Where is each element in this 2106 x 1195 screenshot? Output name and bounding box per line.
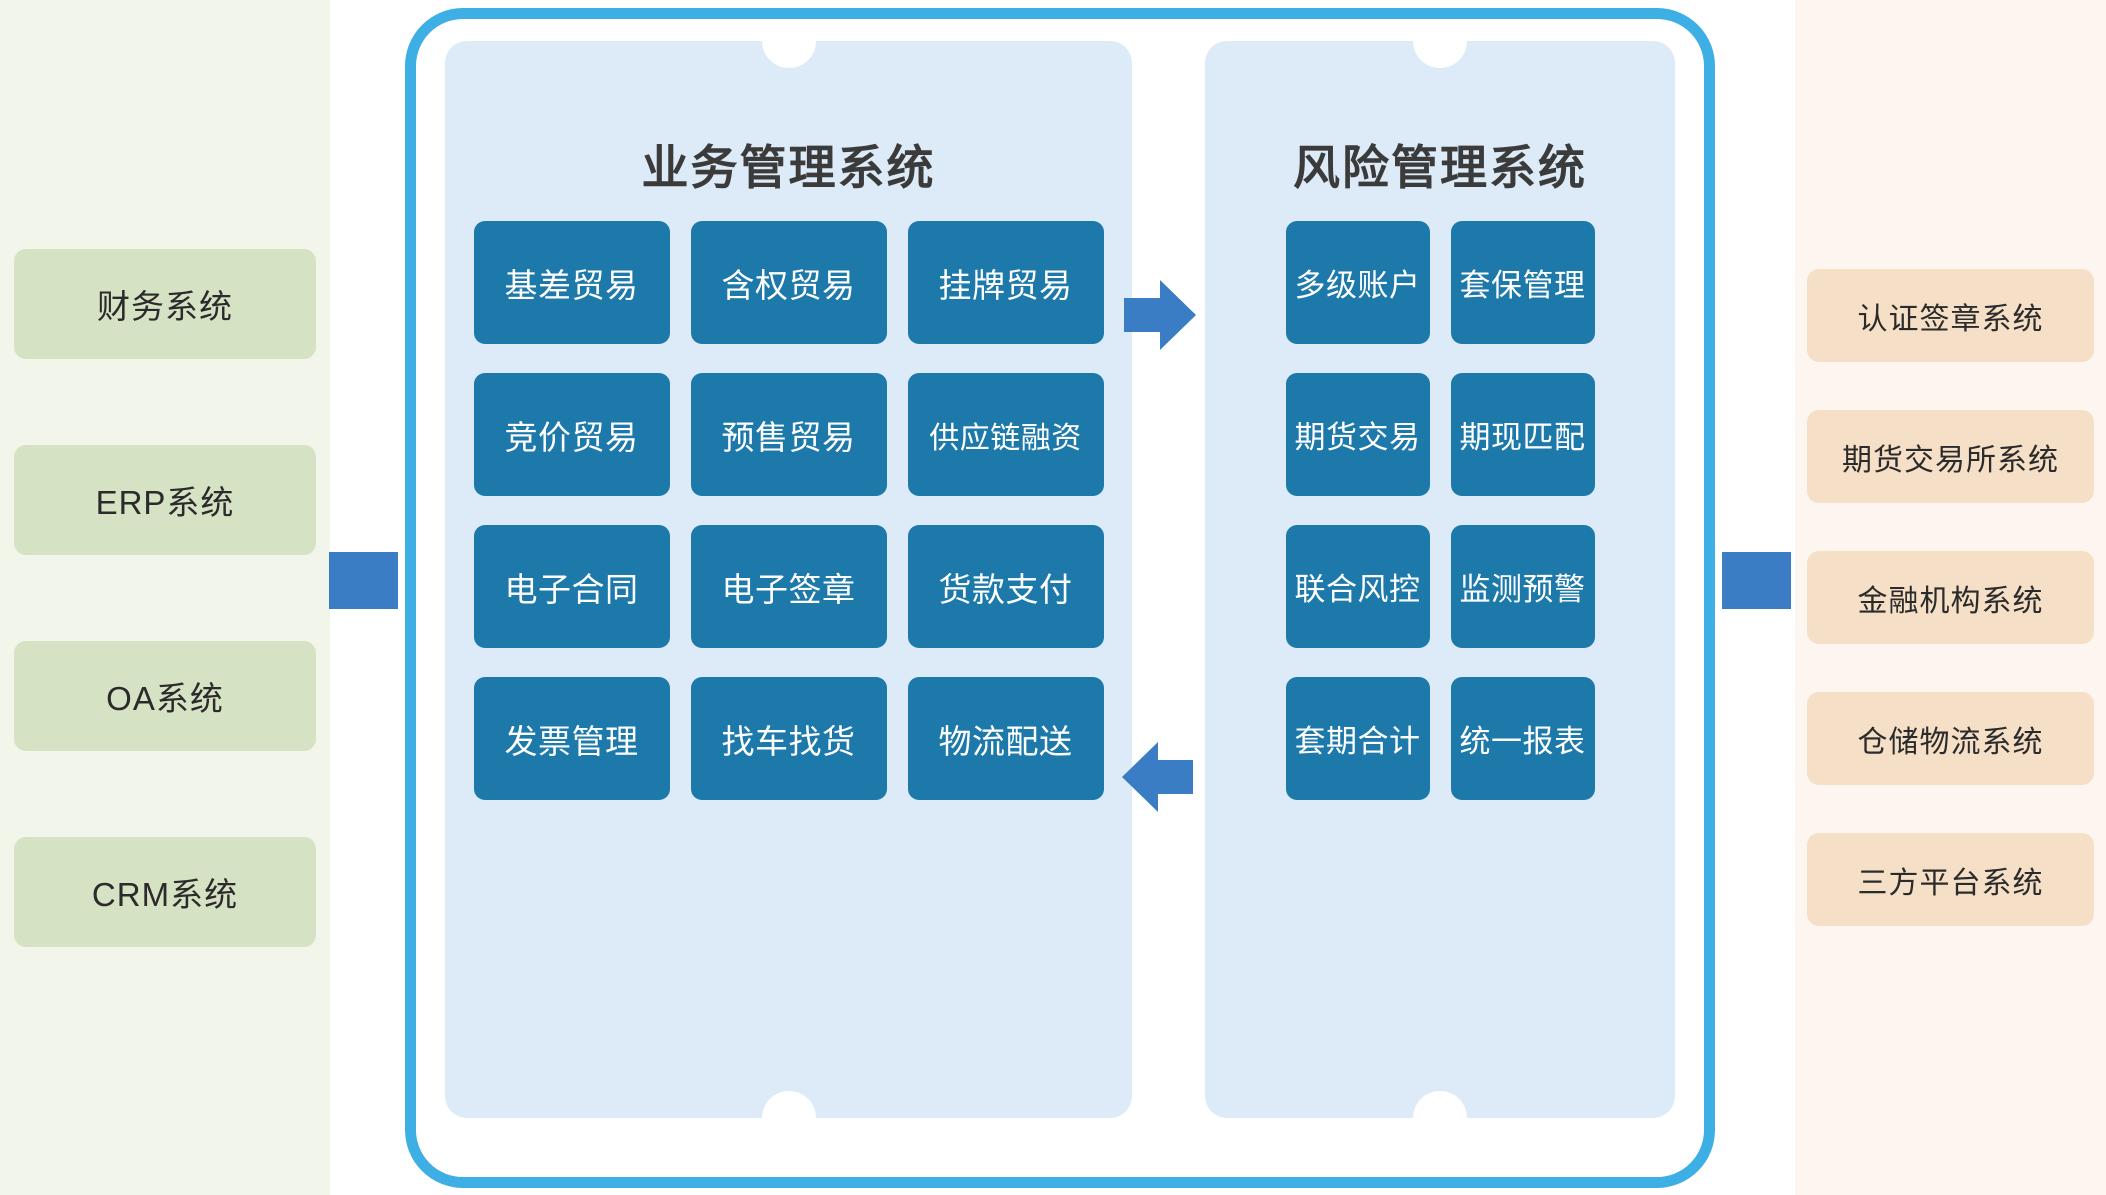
business-tile-9[interactable]: 货款支付 [908, 525, 1104, 648]
left-system-box-2[interactable]: ERP系统 [14, 445, 316, 555]
business-tile-label-2: 含权贸易 [722, 259, 856, 307]
left-system-label-2: ERP系统 [96, 476, 235, 524]
risk-panel-title: 风险管理系统 [1205, 129, 1675, 198]
right-external-connector [1722, 552, 1791, 609]
business-tile-6[interactable]: 供应链融资 [908, 373, 1104, 496]
left-system-box-4[interactable]: CRM系统 [14, 837, 316, 947]
right-system-box-4[interactable]: 仓储物流系统 [1807, 692, 2094, 785]
panel-notch-bottom-icon [1413, 1091, 1467, 1118]
right-system-box-1[interactable]: 认证签章系统 [1807, 269, 2094, 362]
right-system-label-4: 仓储物流系统 [1858, 717, 2044, 761]
business-tile-label-11: 找车找货 [722, 715, 856, 763]
business-tile-label-8: 电子签章 [722, 563, 856, 611]
business-tile-12[interactable]: 物流配送 [908, 677, 1104, 800]
panel-notch-top-icon [1413, 41, 1467, 68]
business-tile-label-10: 发票管理 [505, 715, 639, 763]
arrow-left-shaft [1155, 760, 1193, 794]
risk-tile-label-4: 期现匹配 [1460, 412, 1586, 457]
business-tile-2[interactable]: 含权贸易 [691, 221, 887, 344]
business-tile-3[interactable]: 挂牌贸易 [908, 221, 1104, 344]
risk-tile-grid: 多级账户 套保管理 期货交易 期现匹配 联合风控 监测预警 套期合计 统一报表 [1205, 221, 1675, 800]
left-systems-column: 财务系统 ERP系统 OA系统 CRM系统 [0, 0, 330, 1195]
right-system-box-5[interactable]: 三方平台系统 [1807, 833, 2094, 926]
business-tile-label-4: 竞价贸易 [505, 411, 639, 459]
business-tile-label-12: 物流配送 [939, 715, 1073, 763]
left-system-label-1: 财务系统 [97, 280, 233, 328]
panel-notch-top-icon [762, 41, 816, 68]
business-tile-grid: 基差贸易 含权贸易 挂牌贸易 竞价贸易 预售贸易 供应链融资 电子合同 电子签章… [445, 221, 1132, 800]
business-tile-label-5: 预售贸易 [722, 411, 856, 459]
risk-tile-3[interactable]: 期货交易 [1286, 373, 1430, 496]
arrow-left-icon [1122, 742, 1193, 812]
risk-tile-label-1: 多级账户 [1295, 260, 1421, 305]
business-tile-10[interactable]: 发票管理 [474, 677, 670, 800]
left-system-box-3[interactable]: OA系统 [14, 641, 316, 751]
right-systems-column: 认证签章系统 期货交易所系统 金融机构系统 仓储物流系统 三方平台系统 [1795, 0, 2106, 1195]
risk-tile-label-2: 套保管理 [1460, 260, 1586, 305]
risk-tile-label-5: 联合风控 [1295, 564, 1421, 609]
arrow-right-head [1160, 280, 1196, 350]
risk-tile-8[interactable]: 统一报表 [1451, 677, 1595, 800]
risk-tile-label-8: 统一报表 [1460, 716, 1586, 761]
business-tile-label-6: 供应链融资 [929, 413, 1082, 457]
business-tile-1[interactable]: 基差贸易 [474, 221, 670, 344]
risk-tile-label-6: 监测预警 [1460, 564, 1586, 609]
risk-management-panel: 风险管理系统 多级账户 套保管理 期货交易 期现匹配 联合风控 监测预警 套期合… [1205, 41, 1675, 1118]
diagram-canvas: 财务系统 ERP系统 OA系统 CRM系统 认证签章系统 期货交易所系统 金融机… [0, 0, 2106, 1195]
risk-tile-1[interactable]: 多级账户 [1286, 221, 1430, 344]
risk-tile-4[interactable]: 期现匹配 [1451, 373, 1595, 496]
panel-notch-bottom-icon [762, 1091, 816, 1118]
left-system-label-3: OA系统 [106, 672, 224, 720]
business-tile-label-9: 货款支付 [939, 563, 1073, 611]
business-tile-8[interactable]: 电子签章 [691, 525, 887, 648]
risk-tile-7[interactable]: 套期合计 [1286, 677, 1430, 800]
business-tile-label-1: 基差贸易 [505, 259, 639, 307]
business-tile-11[interactable]: 找车找货 [691, 677, 887, 800]
arrow-right-shaft [1124, 298, 1162, 332]
risk-tile-6[interactable]: 监测预警 [1451, 525, 1595, 648]
right-system-label-3: 金融机构系统 [1858, 576, 2044, 620]
left-system-box-1[interactable]: 财务系统 [14, 249, 316, 359]
business-tile-label-7: 电子合同 [505, 563, 639, 611]
arrow-left-head [1122, 742, 1158, 812]
business-panel-title: 业务管理系统 [445, 129, 1132, 198]
risk-tile-label-3: 期货交易 [1295, 412, 1421, 457]
risk-tile-2[interactable]: 套保管理 [1451, 221, 1595, 344]
right-system-box-3[interactable]: 金融机构系统 [1807, 551, 2094, 644]
left-system-label-4: CRM系统 [92, 868, 238, 916]
right-system-box-2[interactable]: 期货交易所系统 [1807, 410, 2094, 503]
business-tile-4[interactable]: 竞价贸易 [474, 373, 670, 496]
business-tile-label-3: 挂牌贸易 [939, 259, 1073, 307]
right-system-label-5: 三方平台系统 [1858, 858, 2044, 902]
right-system-label-2: 期货交易所系统 [1842, 435, 2059, 479]
business-tile-5[interactable]: 预售贸易 [691, 373, 887, 496]
risk-tile-label-7: 套期合计 [1295, 716, 1421, 761]
right-system-label-1: 认证签章系统 [1858, 294, 2044, 338]
business-tile-7[interactable]: 电子合同 [474, 525, 670, 648]
business-management-panel: 业务管理系统 基差贸易 含权贸易 挂牌贸易 竞价贸易 预售贸易 供应链融资 电子… [445, 41, 1132, 1118]
left-external-connector [329, 552, 398, 609]
risk-tile-5[interactable]: 联合风控 [1286, 525, 1430, 648]
arrow-right-icon [1124, 280, 1195, 350]
